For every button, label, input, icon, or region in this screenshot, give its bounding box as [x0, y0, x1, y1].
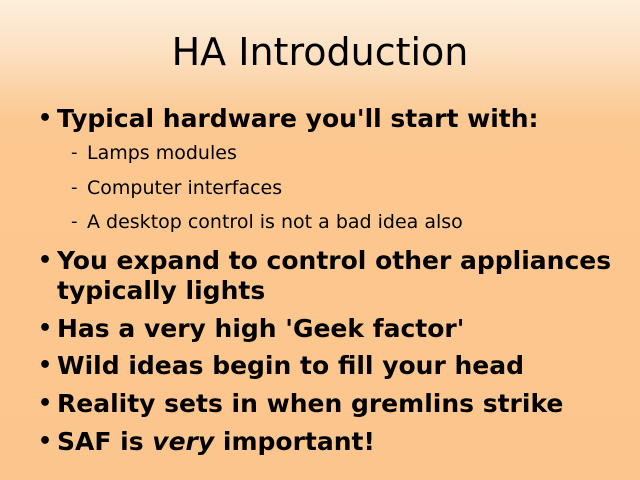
sub-bullet-group: - Lamps modules - Computer interfaces - …	[38, 142, 614, 234]
slide-title: HA Introduction	[0, 33, 640, 73]
bullet-marker-dot: •	[38, 351, 57, 380]
bullet-marker-dash: -	[71, 211, 87, 234]
bullet-item-level1: • Typical hardware you'll start with:	[38, 104, 614, 134]
bullet-marker-dot: •	[38, 427, 57, 456]
bullet-item-level2: - Computer interfaces	[71, 177, 614, 200]
bullet-text: Typical hardware you'll start with:	[57, 104, 614, 134]
slide-body-list: • Typical hardware you'll start with: - …	[38, 104, 614, 465]
bullet-text: Lamps modules	[87, 142, 614, 165]
bullet-item-level1: • SAF is very important!	[38, 427, 614, 457]
bullet-item-level2: - A desktop control is not a bad idea al…	[71, 211, 614, 234]
bullet-text: A desktop control is not a bad idea also	[87, 211, 614, 234]
bullet-marker-dash: -	[71, 177, 87, 200]
bullet-marker-dot: •	[38, 389, 57, 418]
bullet-marker-dash: -	[71, 142, 87, 165]
slide: HA Introduction • Typical hardware you'l…	[0, 0, 640, 480]
bullet-text-before: SAF is	[57, 427, 152, 456]
bullet-item-level1: • Reality sets in when gremlins strike	[38, 389, 614, 419]
bullet-text-rich: SAF is very important!	[57, 427, 614, 457]
bullet-text-after: important!	[214, 427, 375, 456]
bullet-marker-dot: •	[38, 104, 57, 133]
bullet-text: You expand to control other appliances t…	[57, 246, 614, 306]
bullet-text: Has a very high 'Geek factor'	[57, 314, 614, 344]
bullet-marker-dot: •	[38, 314, 57, 343]
bullet-item-level1: • Has a very high 'Geek factor'	[38, 314, 614, 344]
bullet-item-level2: - Lamps modules	[71, 142, 614, 165]
bullet-text-emphasis: very	[152, 427, 214, 456]
bullet-item-level1: • Wild ideas begin to fill your head	[38, 351, 614, 381]
bullet-item-level1: • You expand to control other appliances…	[38, 246, 614, 306]
bullet-text: Reality sets in when gremlins strike	[57, 389, 614, 419]
bullet-text: Computer interfaces	[87, 177, 614, 200]
bullet-text: Wild ideas begin to fill your head	[57, 351, 614, 381]
bullet-marker-dot: •	[38, 246, 57, 275]
